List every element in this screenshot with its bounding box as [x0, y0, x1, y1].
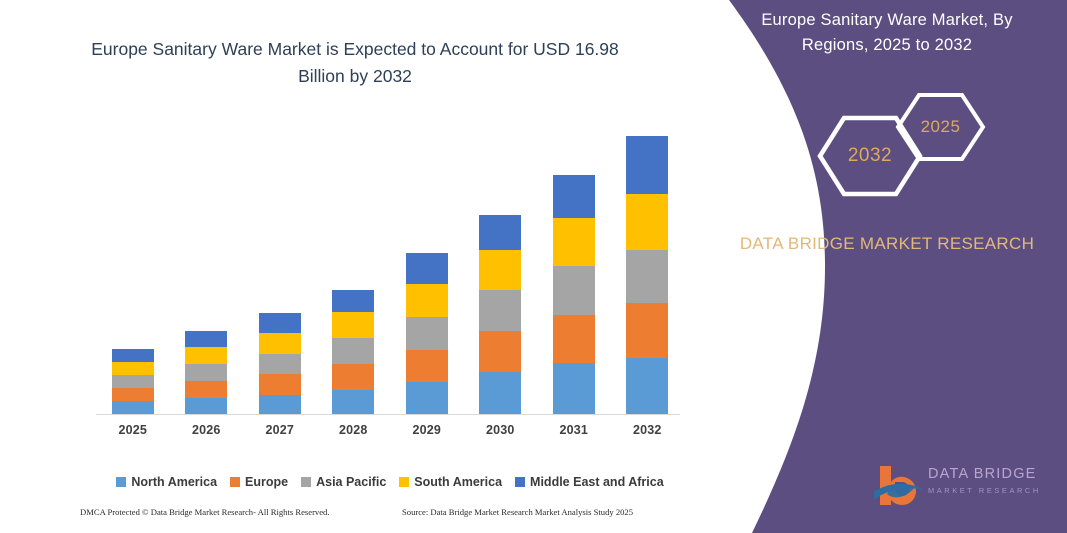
bar-segment [259, 333, 301, 354]
bar-segment [553, 363, 595, 414]
bar-segment [626, 358, 668, 414]
bar-group [185, 331, 227, 414]
legend-label: South America [414, 475, 502, 489]
legend-item[interactable]: South America [399, 475, 502, 489]
bar-segment [406, 317, 448, 350]
bar-segment [479, 215, 521, 250]
bar-segment [479, 250, 521, 290]
logo-word-top: DATA BRIDGE [928, 466, 1046, 483]
infographic-canvas: Europe Sanitary Ware Market is Expected … [0, 0, 1067, 533]
bridge-logo-icon [872, 462, 924, 508]
bar-group [479, 215, 521, 414]
legend-item[interactable]: Europe [230, 475, 288, 489]
hexagon-badge-2025: 2025 [895, 92, 986, 162]
bar-segment [259, 354, 301, 374]
legend-label: Europe [245, 475, 288, 489]
bar-segment [185, 347, 227, 364]
x-axis-label: 2030 [465, 423, 535, 437]
bar-segment [185, 398, 227, 414]
bar-group [112, 349, 154, 414]
x-axis-label: 2028 [318, 423, 388, 437]
bar-segment [185, 364, 227, 381]
legend-swatch-icon [301, 477, 311, 487]
logo-wordmark: DATA BRIDGE MARKET RESEARCH [928, 466, 1046, 497]
x-axis-label: 2025 [98, 423, 168, 437]
legend-item[interactable]: Middle East and Africa [515, 475, 664, 489]
bar-segment [626, 136, 668, 194]
bar-segment [112, 375, 154, 388]
company-logo: DATA BRIDGE MARKET RESEARCH [872, 462, 1047, 508]
bar-segment [332, 312, 374, 338]
legend-label: North America [131, 475, 217, 489]
bar-group [259, 313, 301, 414]
bar-segment [259, 374, 301, 395]
legend-label: Asia Pacific [316, 475, 386, 489]
bar-segment [479, 290, 521, 331]
bar-group [553, 175, 595, 414]
bar-segment [185, 381, 227, 398]
bar-segment [553, 266, 595, 315]
bar-segment [112, 349, 154, 362]
bar-segment [553, 315, 595, 363]
bar-group [332, 290, 374, 414]
stacked-bar-chart [96, 110, 684, 414]
brand-name: DATA BRIDGE MARKET RESEARCH [737, 230, 1037, 257]
legend-label: Middle East and Africa [530, 475, 664, 489]
footer-source: Source: Data Bridge Market Research Mark… [402, 507, 633, 517]
bar-segment [332, 390, 374, 414]
page-title: Europe Sanitary Ware Market is Expected … [70, 36, 640, 90]
bar-segment [259, 395, 301, 414]
x-axis-label: 2029 [392, 423, 462, 437]
bar-group [406, 253, 448, 414]
legend-swatch-icon [116, 477, 126, 487]
bar-segment [259, 313, 301, 333]
hexagon-badges: 2032 2025 [707, 92, 1067, 197]
bar-group [626, 136, 668, 414]
chart-baseline [96, 414, 680, 415]
bar-segment [626, 303, 668, 358]
legend-swatch-icon [399, 477, 409, 487]
bar-segment [332, 290, 374, 312]
bar-segment [406, 253, 448, 284]
footer: DMCA Protected © Data Bridge Market Rese… [80, 507, 680, 523]
hexagon-label-2025: 2025 [895, 92, 986, 162]
bar-segment [553, 218, 595, 266]
bar-segment [626, 250, 668, 303]
bar-segment [406, 382, 448, 414]
bar-segment [553, 175, 595, 218]
x-axis-label: 2032 [612, 423, 682, 437]
x-axis-label: 2026 [171, 423, 241, 437]
bar-segment [626, 194, 668, 250]
x-axis-label: 2031 [539, 423, 609, 437]
bar-segment [112, 362, 154, 375]
legend-swatch-icon [230, 477, 240, 487]
bar-segment [112, 388, 154, 401]
bar-segment [185, 331, 227, 347]
panel-title: Europe Sanitary Ware Market, By Regions,… [729, 8, 1045, 58]
bar-segment [406, 284, 448, 317]
legend-item[interactable]: Asia Pacific [301, 475, 386, 489]
x-axis-label: 2027 [245, 423, 315, 437]
legend-item[interactable]: North America [116, 475, 217, 489]
logo-word-bottom: MARKET RESEARCH [928, 485, 1046, 497]
bar-segment [479, 331, 521, 372]
chart-legend: North AmericaEuropeAsia PacificSouth Ame… [96, 472, 684, 492]
bar-segment [112, 401, 154, 414]
bar-segment [479, 372, 521, 414]
bar-segment [332, 338, 374, 364]
bar-segment [406, 350, 448, 382]
right-panel: Europe Sanitary Ware Market, By Regions,… [707, 0, 1067, 533]
x-axis-labels: 20252026202720282029203020312032 [96, 423, 684, 445]
bar-segment [332, 364, 374, 390]
footer-copyright: DMCA Protected © Data Bridge Market Rese… [80, 507, 330, 517]
legend-swatch-icon [515, 477, 525, 487]
